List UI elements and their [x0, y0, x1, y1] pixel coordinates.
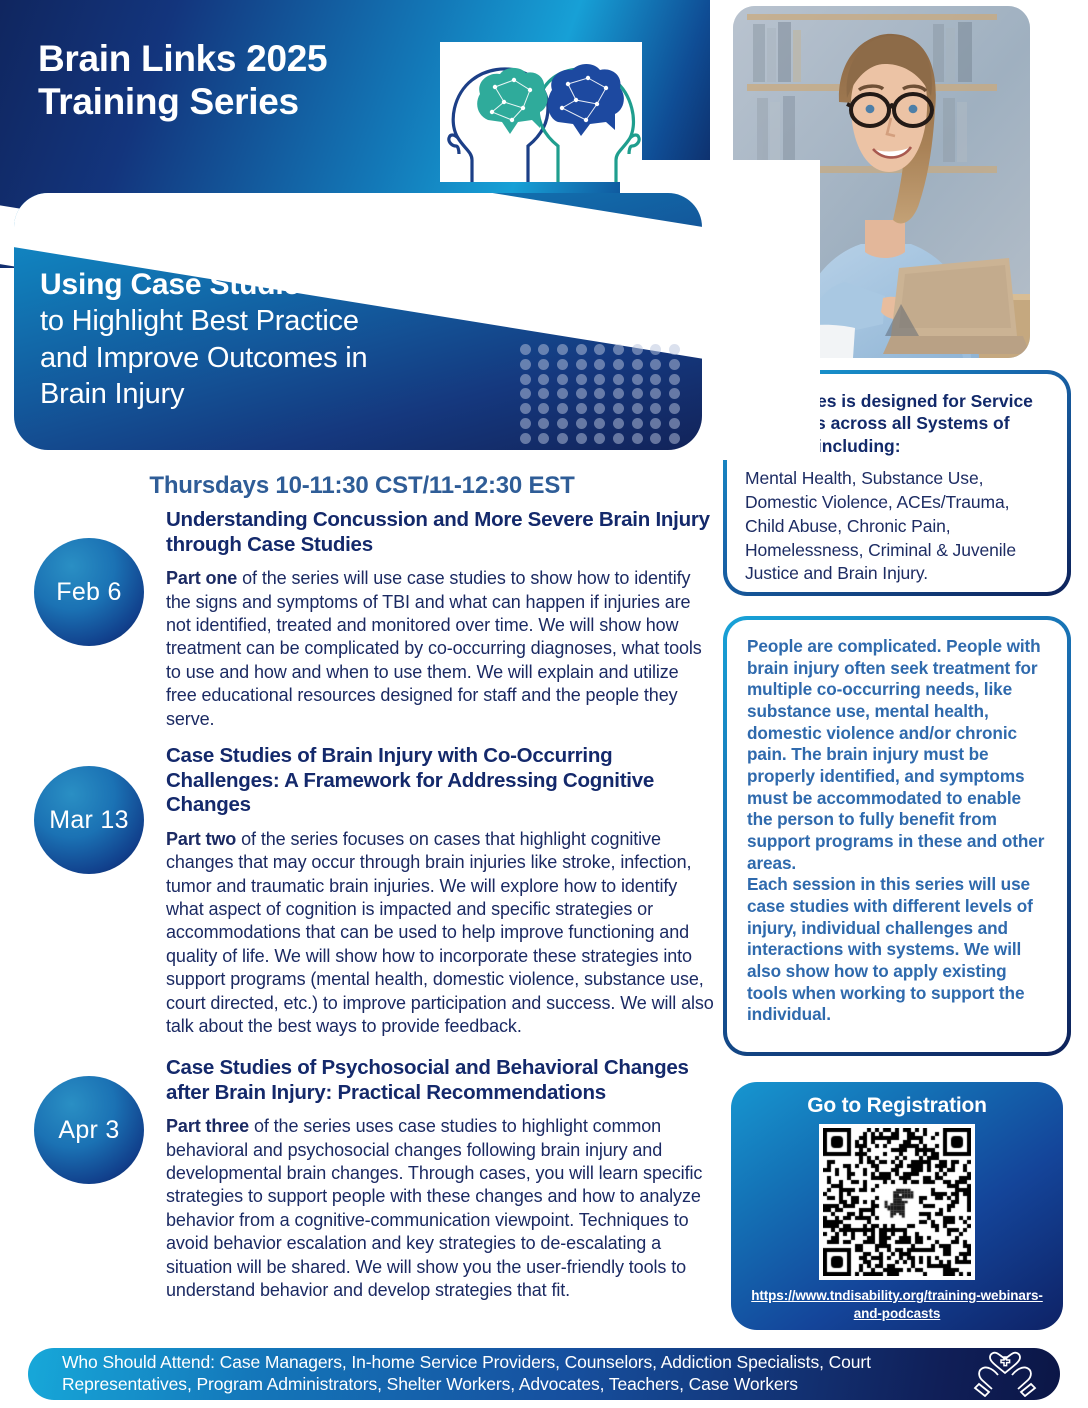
- session-title: Case Studies of Brain Injury with Co-Occ…: [166, 744, 714, 818]
- registration-title: Go to Registration: [731, 1094, 1063, 1118]
- session-date-badge: Apr 3: [34, 1076, 144, 1184]
- session-description: Part one of the series will use case stu…: [166, 567, 714, 731]
- two-heads-brain-network-logo-icon: [440, 42, 642, 182]
- session-title: Understanding Concussion and More Severe…: [166, 508, 714, 557]
- session-title: Case Studies of Psychosocial and Behavio…: [166, 1056, 714, 1105]
- session-body: Understanding Concussion and More Severe…: [166, 508, 714, 731]
- decorative-dot-grid: [516, 342, 684, 446]
- subtitle-line-4: Brain Injury: [40, 376, 540, 413]
- session-description: Part three of the series uses case studi…: [166, 1115, 714, 1302]
- complicated-box-paragraph-1: People are complicated. People with brai…: [747, 636, 1049, 874]
- registration-url-link[interactable]: https://www.tndisability.org/training-we…: [741, 1287, 1053, 1322]
- session-description: Part two of the series focuses on cases …: [166, 828, 714, 1039]
- session-date-badge: Feb 6: [34, 538, 144, 646]
- session-description-lead: Part three: [166, 1116, 249, 1136]
- page-title: Brain Links 2025 Training Series: [38, 38, 438, 124]
- footer-bar: Who Should Attend: Case Managers, In-hom…: [28, 1348, 1060, 1400]
- subtitle-line-3: and Improve Outcomes in: [40, 340, 540, 377]
- session-description-lead: Part two: [166, 829, 236, 849]
- schedule-time-header: Thursdays 10-11:30 CST/11-12:30 EST: [32, 472, 692, 500]
- session-body: Case Studies of Brain Injury with Co-Occ…: [166, 744, 714, 1038]
- subtitle-panel: Using Case Studies to Highlight Best Pra…: [14, 193, 702, 450]
- session-description-lead: Part one: [166, 568, 237, 588]
- subtitle-line-2: to Highlight Best Practice: [40, 303, 540, 340]
- session-date-badge: Mar 13: [34, 766, 144, 874]
- subtitle-text: Using Case Studies to Highlight Best Pra…: [40, 267, 540, 413]
- session-body: Case Studies of Psychosocial and Behavio…: [166, 1056, 714, 1302]
- subtitle-bold-line: Using Case Studies: [40, 267, 540, 303]
- complicated-box-paragraph-2: Each session in this series will use cas…: [747, 874, 1049, 1026]
- complicated-box: People are complicated. People with brai…: [723, 616, 1071, 1056]
- registration-box[interactable]: Go to Registration https://www.tndisabil…: [731, 1082, 1063, 1330]
- page-title-line2: Training Series: [38, 81, 438, 124]
- footer-audience-text: Who Should Attend: Case Managers, In-hom…: [28, 1352, 950, 1395]
- hands-holding-heart-with-cross-icon: [950, 1351, 1060, 1397]
- audience-box-list: Mental Health, Substance Use, Domestic V…: [745, 467, 1049, 586]
- page-title-line1: Brain Links 2025: [38, 38, 438, 81]
- qr-code-with-dinosaur-logo-icon[interactable]: [819, 1124, 975, 1280]
